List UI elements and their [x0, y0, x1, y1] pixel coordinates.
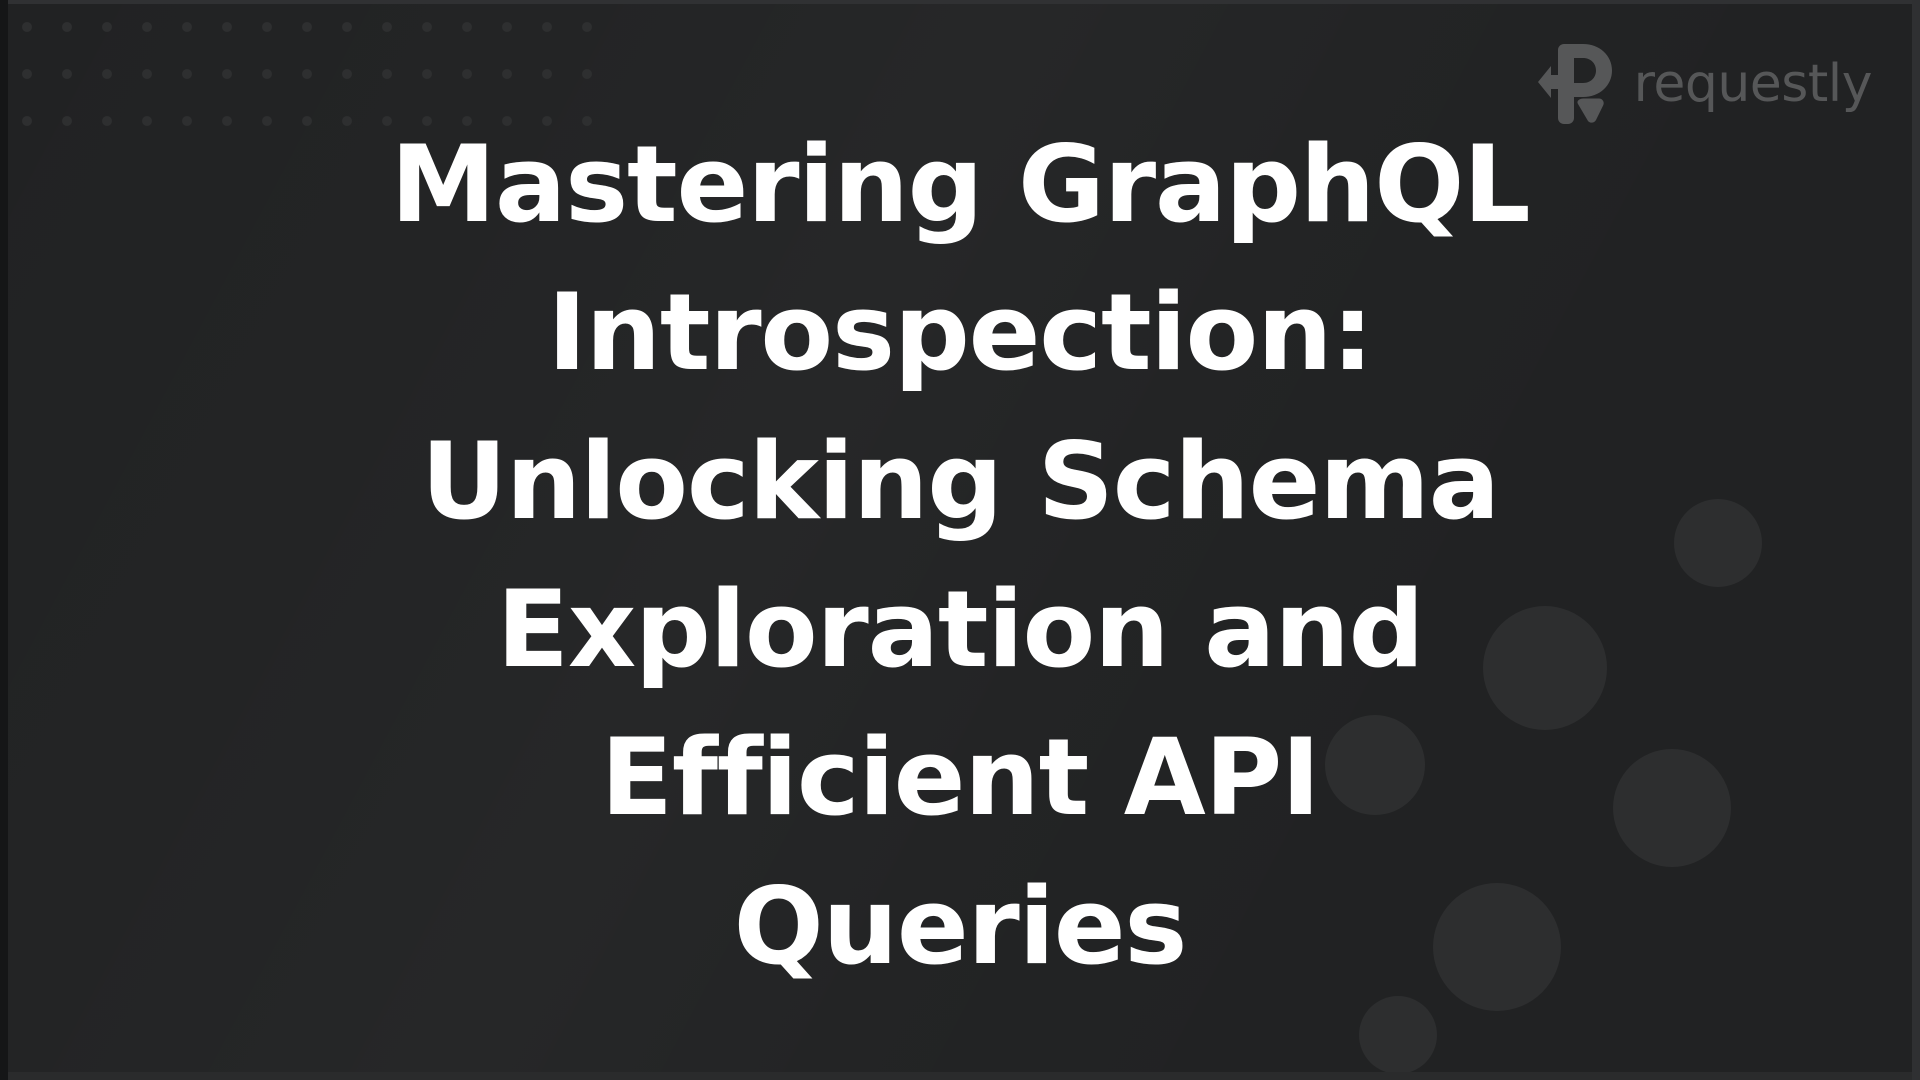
page-title: Mastering GraphQL Introspection: Unlocki…	[390, 111, 1530, 1001]
requestly-r-arrow-logo-icon	[1538, 42, 1614, 126]
title-container: Mastering GraphQL Introspection: Unlocki…	[0, 0, 1920, 1080]
brand-wordmark: requestly	[1634, 58, 1872, 110]
title-slide: requestly Mastering GraphQL Introspectio…	[0, 0, 1920, 1080]
brand-lockup: requestly	[1538, 42, 1872, 126]
